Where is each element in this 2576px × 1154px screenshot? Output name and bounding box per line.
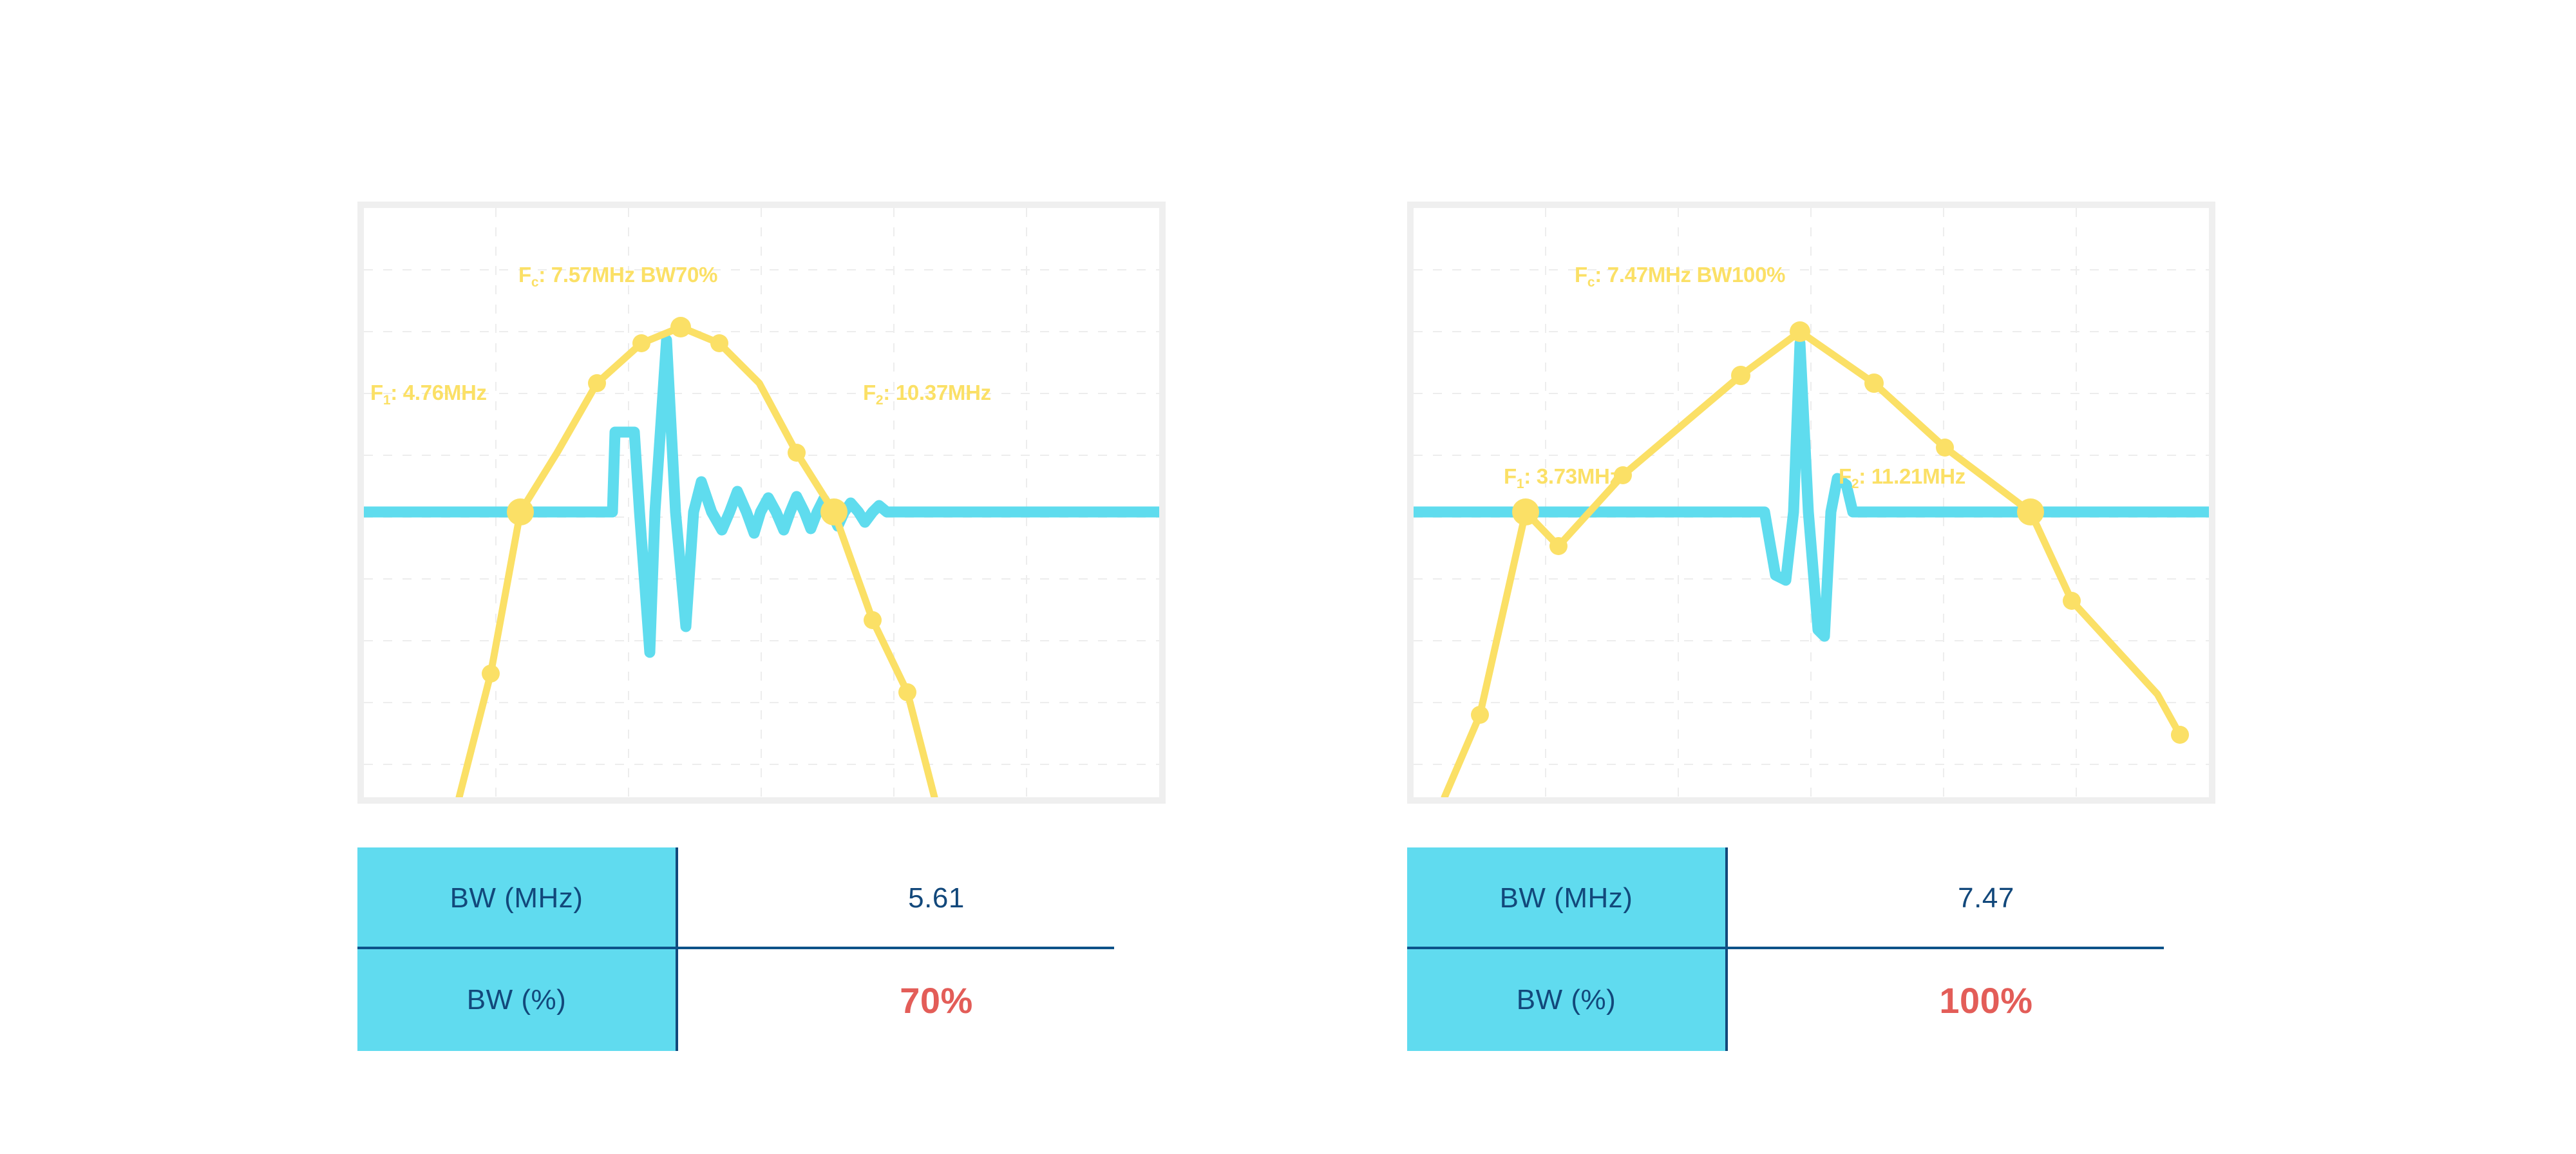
annotation-upper-cutoff-left: F2: 10.37MHz: [863, 381, 991, 405]
annot-text: : 7.57MHz BW70%: [538, 263, 717, 287]
annot-symbol: F: [1839, 464, 1851, 488]
bandwidth-panel-left: Fc: 7.57MHz BW70% F1: 4.76MHz F2: 10.37M…: [245, 0, 1340, 1154]
table-row-value-cell: 100%: [1728, 949, 2244, 1051]
chart-plot-right: [1414, 208, 2209, 797]
screenshot-root: Fc: 7.57MHz BW70% F1: 4.76MHz F2: 10.37M…: [0, 0, 2576, 1154]
annot-text: : 3.73MHz: [1524, 464, 1620, 488]
table-row-label: BW (%): [1407, 949, 1728, 1051]
annotation-center-frequency-right: Fc: 7.47MHz BW100%: [1575, 263, 1785, 287]
bandwidth-table-left: BW (MHz) 5.61 BW (%) 70%: [357, 847, 1195, 1051]
chart-frame-right: Fc: 7.47MHz BW100% F1: 3.73MHz F2: 11.21…: [1407, 202, 2215, 804]
table-row: BW (MHz) 7.47: [1407, 847, 2244, 949]
annot-symbol: F: [863, 381, 876, 404]
bandwidth-mhz-value: 5.61: [908, 882, 965, 914]
annot-subscript: 1: [383, 393, 390, 408]
annot-text: : 7.47MHz BW100%: [1595, 263, 1785, 287]
table-row: BW (%) 70%: [357, 949, 1195, 1051]
annotation-lower-cutoff-right: F1: 3.73MHz: [1504, 464, 1620, 489]
annot-subscript: 1: [1517, 477, 1524, 491]
table-row-value-cell: 5.61: [678, 847, 1195, 949]
annot-text: : 10.37MHz: [883, 381, 991, 404]
table-row-value-cell: 7.47: [1728, 847, 2244, 949]
table-row: BW (MHz) 5.61: [357, 847, 1195, 949]
table-row-value-cell: 70%: [678, 949, 1195, 1051]
bandwidth-percent-value: 70%: [900, 979, 973, 1021]
chart-plot-left: [364, 208, 1159, 797]
annotation-upper-cutoff-right: F2: 11.21MHz: [1839, 464, 1965, 489]
annot-symbol: F: [1575, 263, 1587, 287]
annot-symbol: F: [1504, 464, 1517, 488]
bandwidth-panel-right: Fc: 7.47MHz BW100% F1: 3.73MHz F2: 11.21…: [1294, 0, 2389, 1154]
table-row: BW (%) 100%: [1407, 949, 2244, 1051]
table-row-label: BW (MHz): [357, 847, 678, 949]
bandwidth-chart-right: [1414, 208, 2209, 797]
bandwidth-table-right: BW (MHz) 7.47 BW (%) 100%: [1407, 847, 2244, 1051]
annot-subscript: c: [531, 275, 538, 290]
annot-text: : 11.21MHz: [1859, 464, 1965, 488]
annot-subscript: c: [1587, 275, 1595, 290]
annotation-center-frequency-left: Fc: 7.57MHz BW70%: [518, 263, 717, 287]
annot-symbol: F: [518, 263, 531, 287]
bandwidth-chart-left: [364, 208, 1159, 797]
table-row-label: BW (MHz): [1407, 847, 1728, 949]
annotation-lower-cutoff-left: F1: 4.76MHz: [370, 381, 487, 405]
table-row-label: BW (%): [357, 949, 678, 1051]
chart-frame-left: Fc: 7.57MHz BW70% F1: 4.76MHz F2: 10.37M…: [357, 202, 1166, 804]
annot-text: : 4.76MHz: [390, 381, 487, 404]
annot-subscript: 2: [876, 393, 883, 408]
bandwidth-percent-value: 100%: [1939, 979, 2032, 1021]
bandwidth-mhz-value: 7.47: [1958, 882, 2014, 914]
annot-subscript: 2: [1851, 477, 1859, 491]
annot-symbol: F: [370, 381, 383, 404]
